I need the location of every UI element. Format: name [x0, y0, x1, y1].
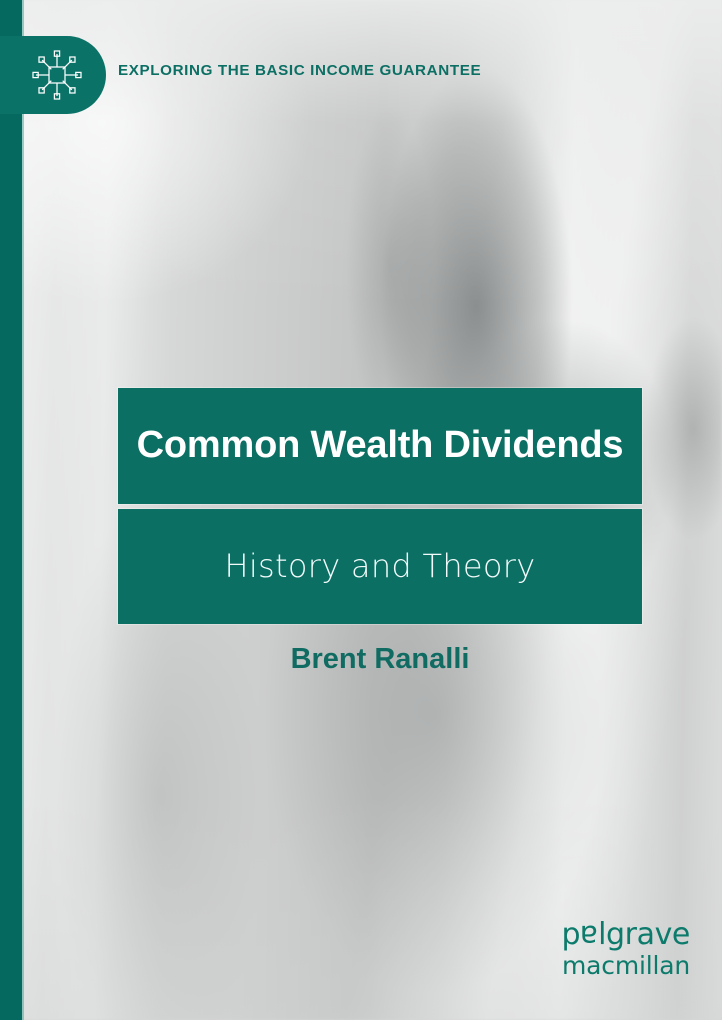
publisher-logo: palgrave macmillan [561, 920, 690, 978]
publisher-palgrave-post: lgrave [598, 917, 690, 952]
subtitle-panel: History and Theory [118, 509, 642, 624]
spine-strip-highlight [22, 0, 24, 1020]
publisher-name-macmillan: macmillan [561, 953, 690, 978]
author-name: Brent Ranalli [118, 643, 642, 676]
book-cover: EXPLORING THE BASIC INCOME GUARANTEE Com… [0, 0, 722, 1020]
book-subtitle: History and Theory [225, 549, 536, 584]
publisher-palgrave-pre: p [561, 917, 580, 952]
series-title: EXPLORING THE BASIC INCOME GUARANTEE [118, 62, 481, 79]
title-panel: Common Wealth Dividends [118, 388, 642, 504]
network-nodes-icon [30, 48, 84, 102]
publisher-palgrave-rotated-a: a [580, 920, 598, 950]
spine-strip [0, 0, 22, 1020]
book-title: Common Wealth Dividends [137, 425, 624, 467]
publisher-name-palgrave: palgrave [561, 920, 690, 950]
